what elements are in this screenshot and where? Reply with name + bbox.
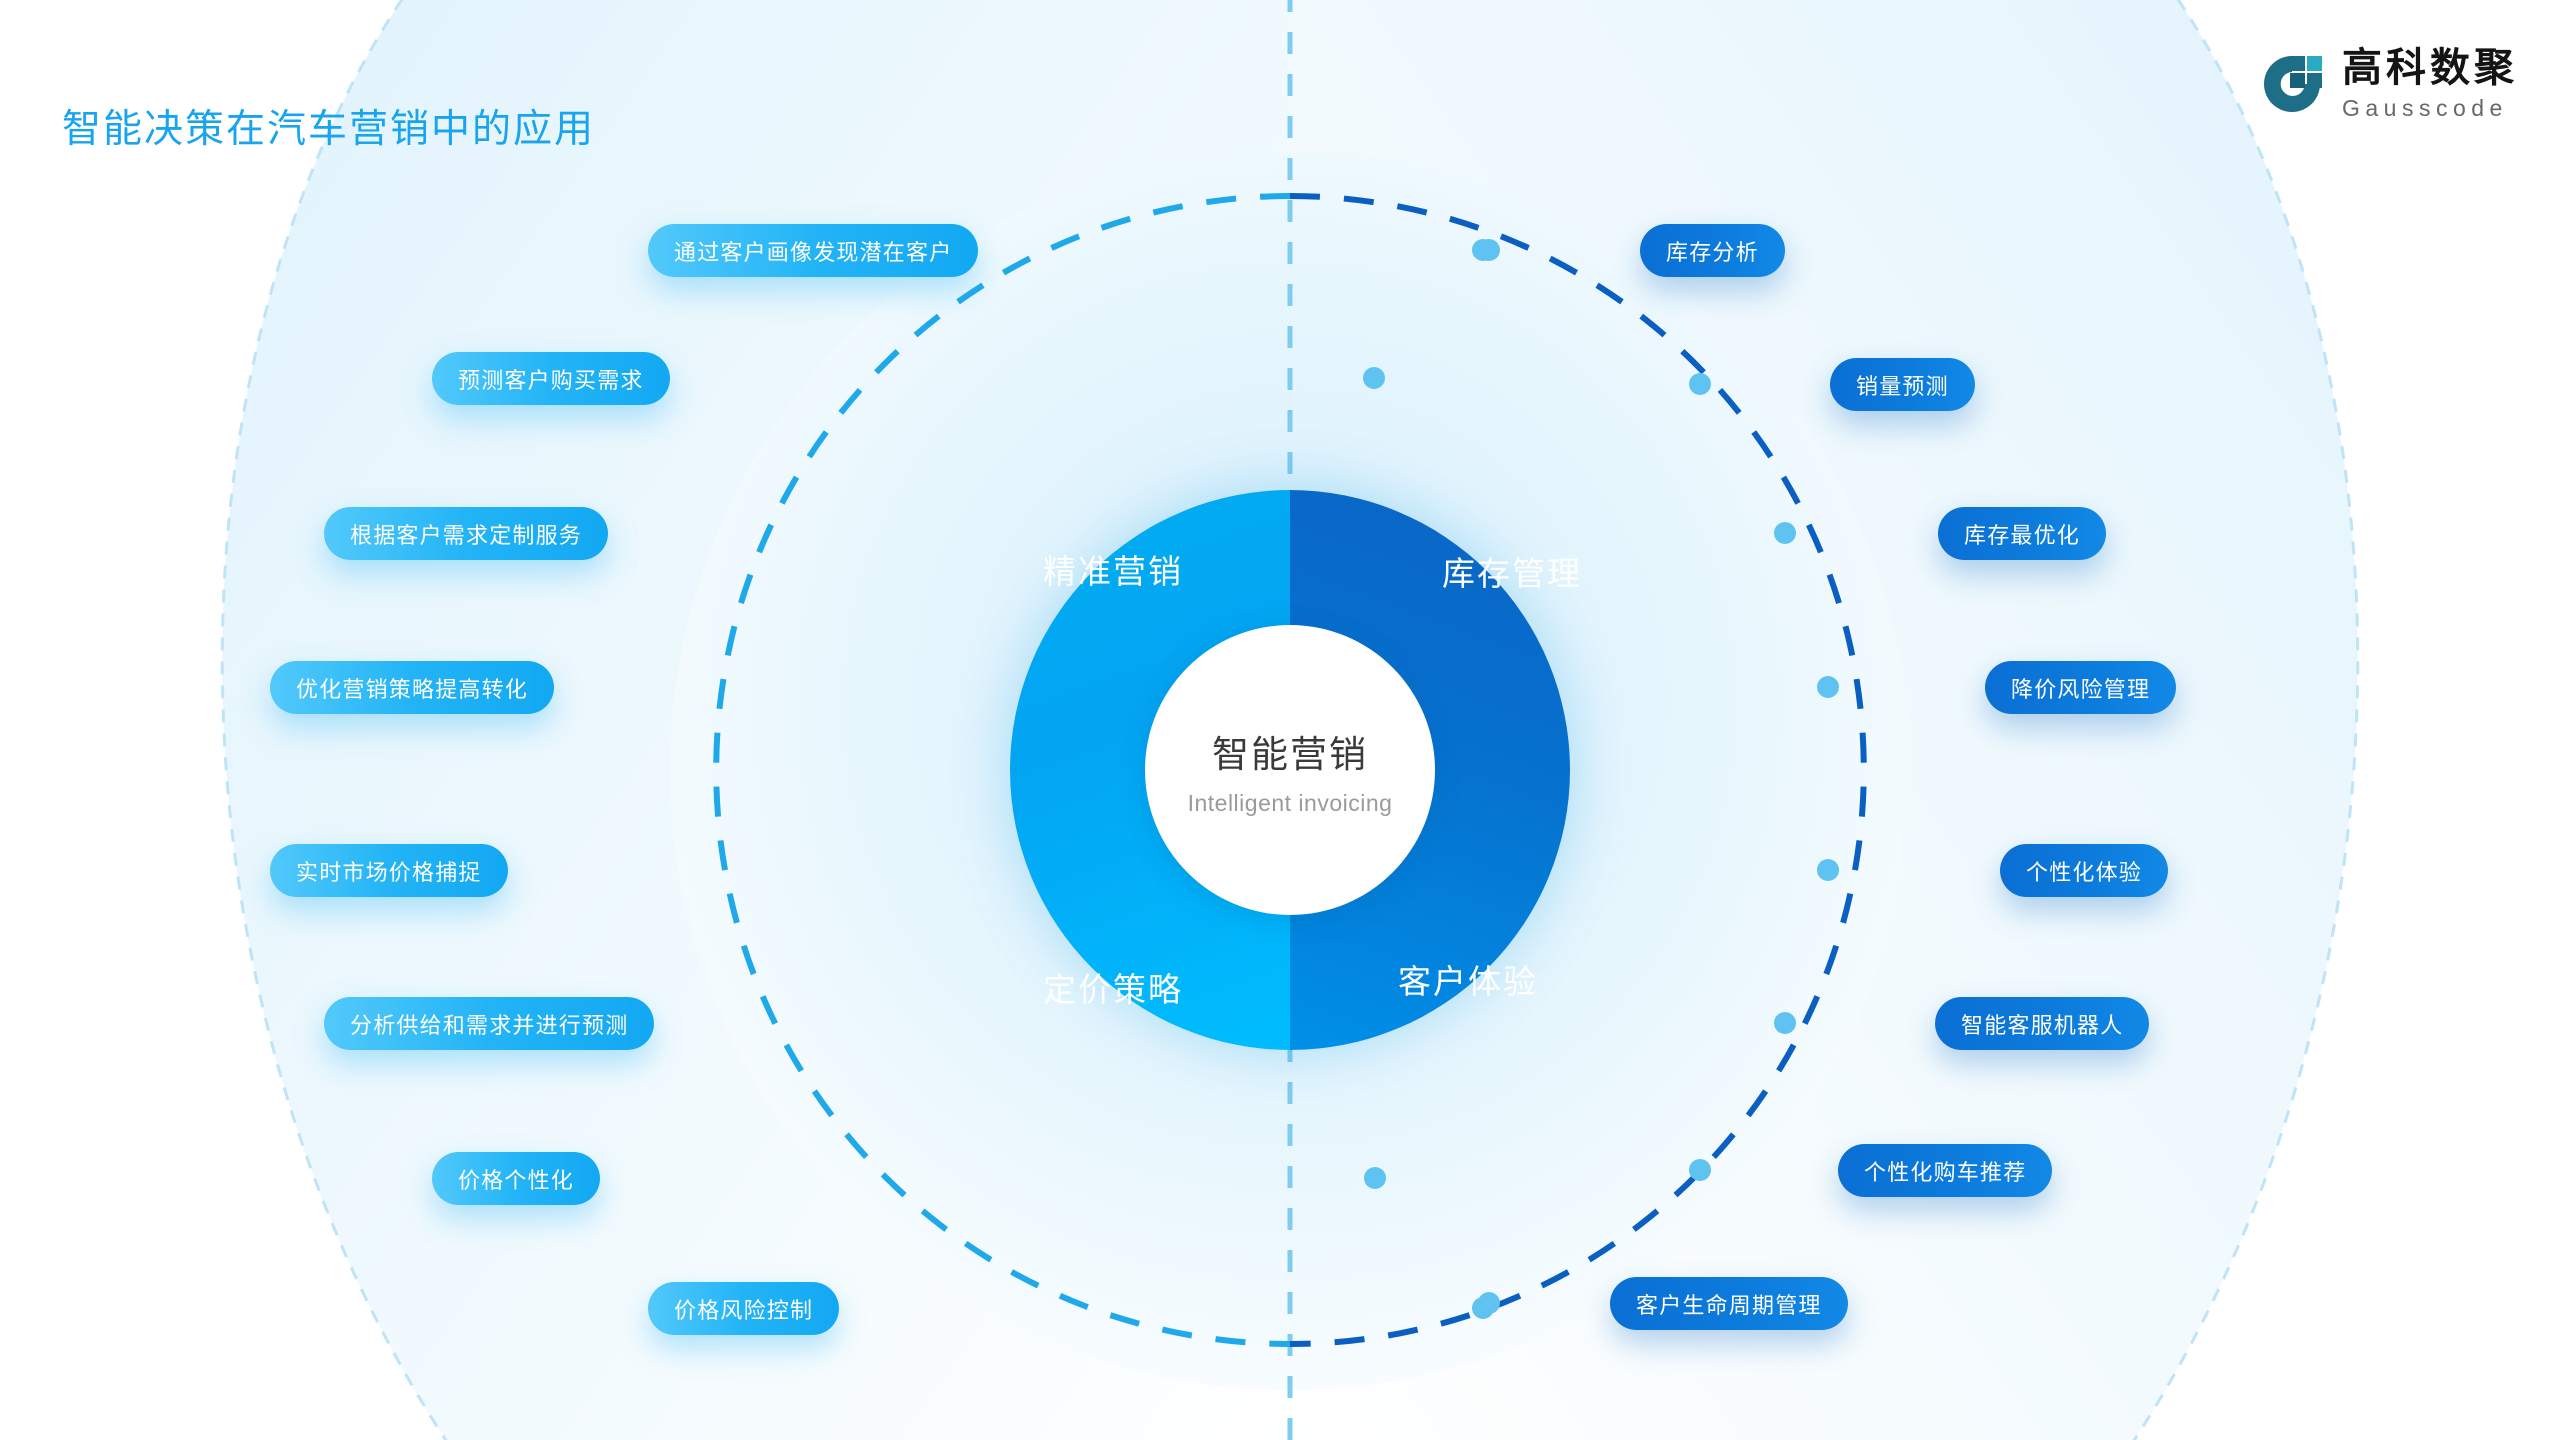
left-item-1[interactable]: 预测客户购买需求 [432,352,670,405]
brand-logo: 高科数聚 Gausscode [2260,48,2518,120]
quadrant-label-precision-marketing[interactable]: 精准营销 [1043,545,1183,593]
hub-core: 智能营销 Intelligent invoicing [1145,625,1435,915]
gausscode-logo-icon [2260,52,2324,116]
left-item-3[interactable]: 优化营销策略提高转化 [270,661,554,714]
right-item-4[interactable]: 个性化体验 [2000,844,2168,897]
left-item-2[interactable]: 根据客户需求定制服务 [324,507,608,560]
brand-name-en: Gausscode [2342,97,2518,120]
right-item-0[interactable]: 库存分析 [1640,224,1785,277]
hub-core-subtitle: Intelligent invoicing [1188,790,1393,817]
left-item-0[interactable]: 通过客户画像发现潜在客户 [648,224,978,277]
right-item-2[interactable]: 库存最优化 [1938,507,2106,560]
right-item-3[interactable]: 降价风险管理 [1985,661,2176,714]
quadrant-label-customer-experience[interactable]: 客户体验 [1398,955,1538,1003]
brand-name-cn: 高科数聚 [2342,48,2518,88]
quadrant-label-inventory-management[interactable]: 库存管理 [1442,547,1582,595]
left-item-7[interactable]: 价格风险控制 [648,1282,839,1335]
hub-core-title: 智能营销 [1212,724,1368,778]
left-item-5[interactable]: 分析供给和需求并进行预测 [324,997,654,1050]
page-title: 智能决策在汽车营销中的应用 [62,98,595,154]
quadrant-label-pricing-strategy[interactable]: 定价策略 [1043,963,1183,1011]
left-item-4[interactable]: 实时市场价格捕捉 [270,844,508,897]
right-item-7[interactable]: 客户生命周期管理 [1610,1277,1848,1330]
right-item-5[interactable]: 智能客服机器人 [1935,997,2149,1050]
right-item-1[interactable]: 销量预测 [1830,358,1975,411]
right-item-6[interactable]: 个性化购车推荐 [1838,1144,2052,1197]
left-item-6[interactable]: 价格个性化 [432,1152,600,1205]
